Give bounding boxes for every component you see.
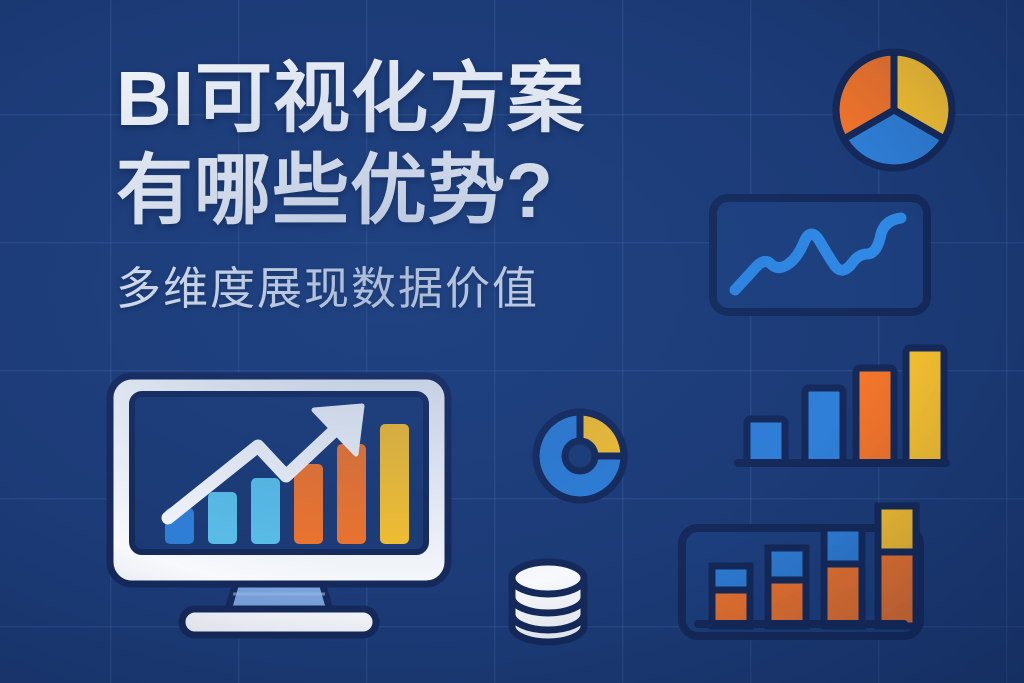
poster-canvas: BI可视化方案 有哪些优势? 多维度展现数据价值 <box>0 0 1024 683</box>
pie-chart-icon <box>832 44 956 176</box>
pie-chart-slices <box>836 52 952 168</box>
monitor-base <box>182 609 376 635</box>
page-title-line-1: BI可视化方案 <box>116 56 696 142</box>
bar-chart-baseline <box>734 459 950 467</box>
line-chart-card-icon <box>705 190 935 320</box>
monitor-dashboard-icon <box>104 372 454 647</box>
dashboard-panel-icon <box>672 500 930 646</box>
page-subtitle: 多维度展现数据价值 <box>116 252 696 317</box>
dashboard-baseline <box>694 620 908 628</box>
headline-block: BI可视化方案 有哪些优势? 多维度展现数据价值 <box>116 56 696 317</box>
page-title-line-2: 有哪些优势? <box>116 148 696 234</box>
donut-hole <box>565 441 595 471</box>
donut-chart-icon <box>528 404 632 508</box>
bar-chart-bars <box>747 348 944 463</box>
database-layers <box>512 562 584 642</box>
database-cylinder-icon <box>496 552 600 648</box>
bar-chart-icon <box>730 340 955 475</box>
donut-chart-slices <box>536 412 624 500</box>
